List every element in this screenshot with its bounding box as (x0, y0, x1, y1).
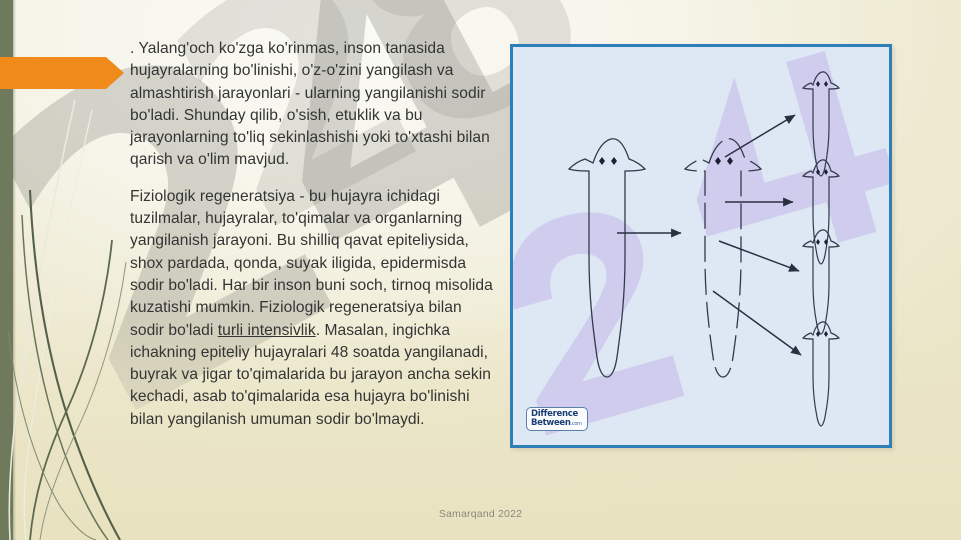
planarian-diagram-svg (513, 47, 889, 445)
paragraph-1-run-1: . Yalang'och ko'zga ko'rinmas, inson tan… (130, 40, 490, 168)
slide-footer: Samarqand 2022 (0, 508, 961, 520)
planarian-regeneration-figure: Difference Between.com (510, 44, 892, 448)
paragraph-2-underlined-phrase[interactable]: turli intensivlik (218, 322, 316, 339)
figure-canvas: Difference Between.com (513, 47, 889, 445)
orange-arrow-banner (0, 57, 124, 89)
logo-suffix: .com (571, 421, 582, 427)
body-text-column: . Yalang'och ko'zga ko'rinmas, inson tan… (130, 38, 495, 445)
paragraph-2-run-1: Fiziologik regeneratsiya - bu hujayra ic… (130, 188, 493, 339)
logo-line-2-text: Between (531, 418, 571, 428)
slide-canvas: 24 28 . Yalang'och ko'zga ko'rinmas, ins… (0, 0, 961, 540)
difference-between-logo: Difference Between.com (526, 407, 588, 431)
paragraph-2: Fiziologik regeneratsiya - bu hujayra ic… (130, 186, 495, 431)
paragraph-1: . Yalang'och ko'zga ko'rinmas, inson tan… (130, 38, 495, 172)
logo-line-2: Between.com (531, 419, 587, 429)
